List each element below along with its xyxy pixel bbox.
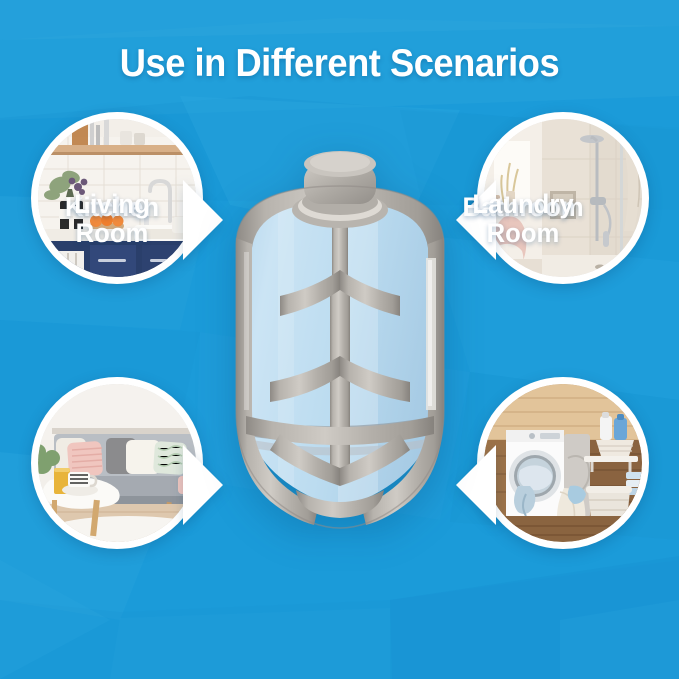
living-room-arrow-icon bbox=[183, 445, 223, 525]
scenario-living-room[interactable] bbox=[31, 377, 203, 549]
scenario-laundry-room[interactable] bbox=[477, 377, 649, 549]
living-room-circle-wrap[interactable] bbox=[31, 377, 203, 549]
product-image-vacuum-filter-cage[interactable] bbox=[218, 140, 462, 535]
living-room-label: Living Room bbox=[3, 190, 222, 248]
living-room-photo bbox=[38, 384, 196, 542]
page-title: Use in Different Scenarios bbox=[24, 42, 655, 86]
living-room-label-line-2: Room bbox=[3, 219, 222, 248]
infographic-canvas: Use in Different Scenarios bbox=[0, 0, 679, 679]
laundry-room-circle-wrap[interactable] bbox=[477, 377, 649, 549]
laundry-room-photo bbox=[484, 384, 642, 542]
laundry-room-arrow-icon bbox=[456, 445, 496, 525]
living-room-label-line-1: Living bbox=[3, 190, 222, 219]
